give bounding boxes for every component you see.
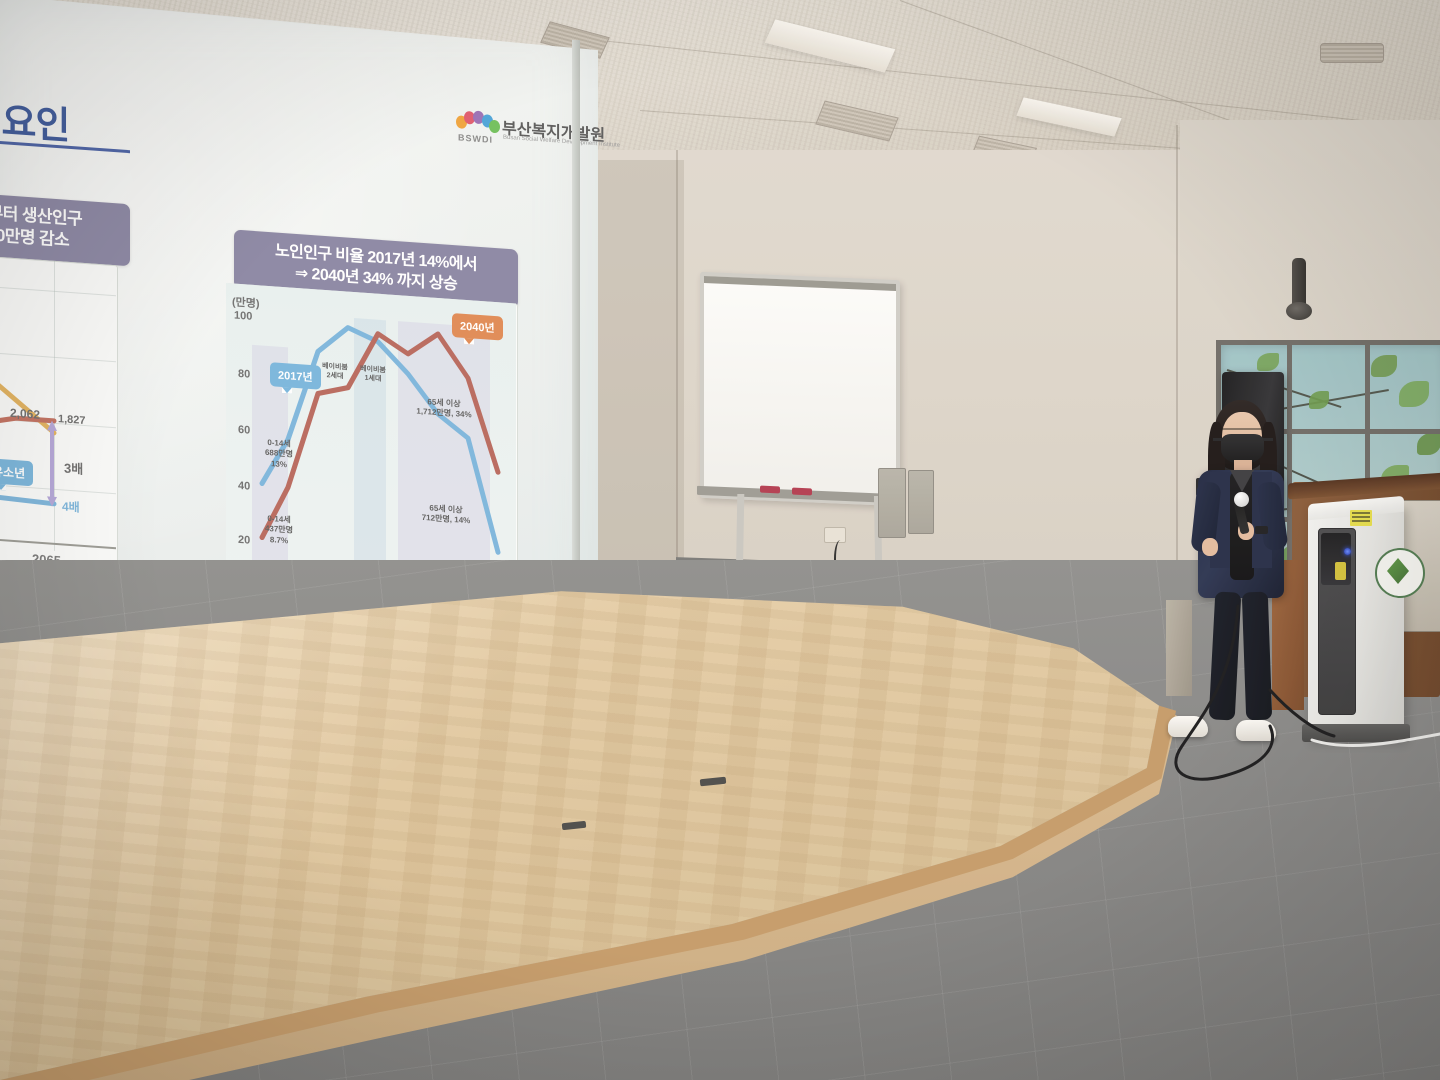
presentation-photo: 화 사회적 요인 BSWDI 부산복지개발원 Busan Social Welf… — [0, 0, 1440, 1080]
mask-strap-left — [1213, 438, 1223, 441]
hand-left — [1202, 538, 1218, 556]
whiteboard — [700, 272, 900, 506]
mask-strap-right — [1263, 438, 1273, 441]
tag-year-2040: 2040년 — [452, 313, 503, 341]
note-young-2017: 0-14세 688만명 13% — [252, 437, 306, 472]
note-babyboom-1: 베이비붐 1세대 — [356, 364, 390, 385]
kiosk-warning-sticker — [1350, 510, 1372, 526]
population-projection-chart: 3,763 2,772 2,062 1,827 4배 3배 2017년 생산가능… — [0, 245, 116, 595]
logo-dots-icon — [456, 109, 496, 132]
left-chart-3bae-label: 3배 — [64, 458, 83, 478]
wall-panel-2 — [908, 470, 934, 534]
left-chart-value-1827: 1,827 — [58, 413, 86, 427]
tag-youth: 유소년 — [0, 458, 33, 486]
left-chart-value-2062: 2,062 — [10, 406, 40, 422]
logo-abbrev: BSWDI — [458, 132, 493, 144]
bswdi-logo: BSWDI 부산복지개발원 Busan Social Welfare Devel… — [456, 105, 574, 161]
ceiling-vent-4 — [1320, 43, 1384, 63]
note-babyboom-2: 베이비붐 2세대 — [318, 362, 352, 383]
left-chart-value-4bae: 4배 — [62, 497, 80, 515]
power-cable — [1290, 700, 1440, 780]
wall-panel-1 — [878, 468, 906, 538]
note-young-2040: 0-14세 437만명 8.7% — [250, 513, 308, 548]
tag-year-2017: 2017년 — [270, 362, 321, 390]
whiteboard-eraser-1[interactable] — [760, 486, 780, 494]
kiosk-led-indicator — [1344, 548, 1351, 555]
slide-subtitle: 사회적 요인 — [0, 82, 69, 150]
wristwatch — [1255, 526, 1268, 534]
caption-box-left: 소, 2017년부터 생산인구 년 후 1,000만명 감소 — [0, 186, 130, 267]
wall-pipe-cap — [1286, 302, 1312, 320]
microphone-head — [1234, 492, 1249, 507]
whiteboard-top-rail — [704, 276, 896, 291]
whiteboard-eraser-2[interactable] — [792, 488, 812, 496]
